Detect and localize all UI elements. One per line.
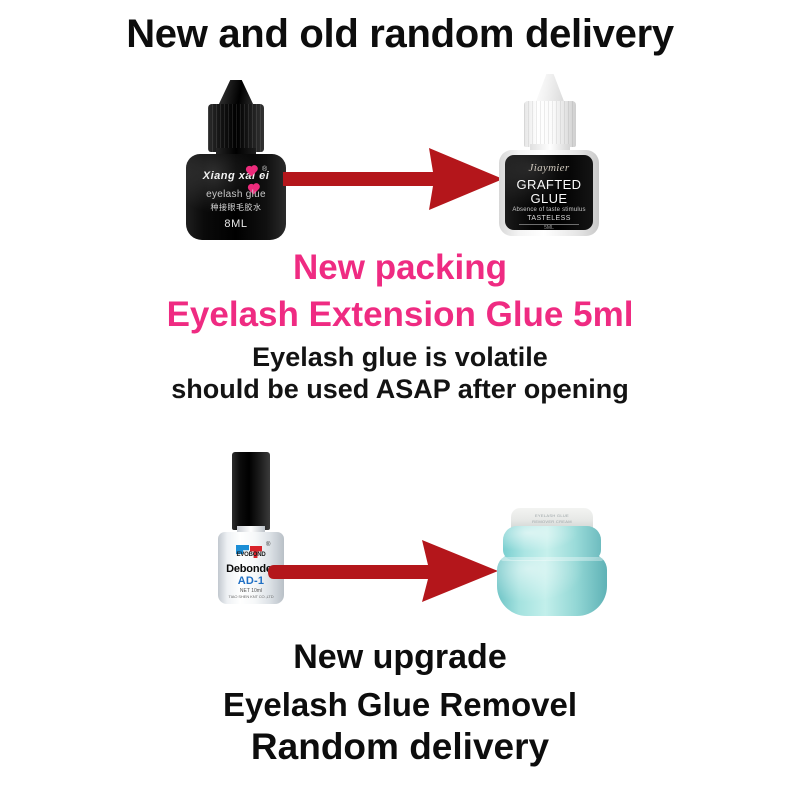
bottle-body: Xiang xai ei ® eyelash glue 种接眼毛胶水 8ML	[186, 154, 286, 240]
remover-caption-line-3: Random delivery	[0, 726, 800, 768]
jar-lid-label-line-2: REMOVER CREAM	[532, 519, 572, 524]
product-image-old-eyelash-glue-bottle: Xiang xai ei ® eyelash glue 种接眼毛胶水 8ML	[182, 80, 290, 240]
bottle-cap	[208, 104, 264, 152]
jar-shoulder	[503, 526, 601, 560]
dropper-tip	[218, 80, 254, 106]
product-volume-label: 5ML	[505, 225, 593, 231]
product-image-new-grafted-glue-bottle: Jiaymier GRAFTED GLUE Absence of taste s…	[497, 74, 601, 236]
glue-caption-line-1: New packing	[0, 248, 800, 288]
bottle-label: Jiaymier GRAFTED GLUE Absence of taste s…	[505, 155, 593, 230]
product-volume-label: 8ML	[186, 218, 286, 230]
page-title: New and old random delivery	[0, 12, 800, 57]
product-image-new-remover-jar: EYELASH GLUE REMOVER CREAM	[495, 508, 609, 616]
glue-note-line-1: Eyelash glue is volatile	[0, 342, 800, 373]
product-subtitle-chinese: 种接眼毛胶水	[186, 202, 286, 213]
product-claim-tasteless-label: TASTELESS	[505, 215, 593, 222]
product-claim-label: Absence of taste stimulus	[505, 207, 593, 213]
jar-lid-label-line-1: EYELASH GLUE	[535, 513, 569, 518]
product-line-label: eyelash glue	[186, 189, 286, 200]
bottle-cap	[524, 101, 576, 147]
dropper-tip	[535, 74, 565, 104]
infographic-canvas: New and old random delivery Xiang xai ei…	[0, 0, 800, 800]
product-brand-label: Xiang xai ei	[186, 170, 286, 182]
bottle-cap	[232, 452, 270, 530]
product-name-line-1: GRAFTED	[505, 177, 593, 192]
remover-caption-line-2: Eyelash Glue Removel	[0, 686, 800, 724]
remover-caption-line-1: New upgrade	[0, 638, 800, 677]
product-name-line-2: GLUE	[505, 191, 593, 206]
arrow-right-icon	[268, 540, 498, 607]
brand-logo-icon: EVOBOND	[234, 545, 268, 559]
product-brand-label: Jiaymier	[505, 162, 593, 174]
arrow-right-icon	[283, 148, 503, 215]
brand-name-label: EVOBOND	[234, 552, 268, 558]
jar-seam	[501, 557, 603, 561]
glue-caption-line-2: Eyelash Extension Glue 5ml	[0, 295, 800, 335]
jar-lid-label: EYELASH GLUE REMOVER CREAM	[511, 513, 593, 525]
bottle-body: Jiaymier GRAFTED GLUE Absence of taste s…	[499, 150, 599, 236]
glue-note-line-2: should be used ASAP after opening	[0, 374, 800, 405]
jar-base	[497, 554, 607, 616]
registered-trademark-icon: ®	[262, 166, 267, 173]
